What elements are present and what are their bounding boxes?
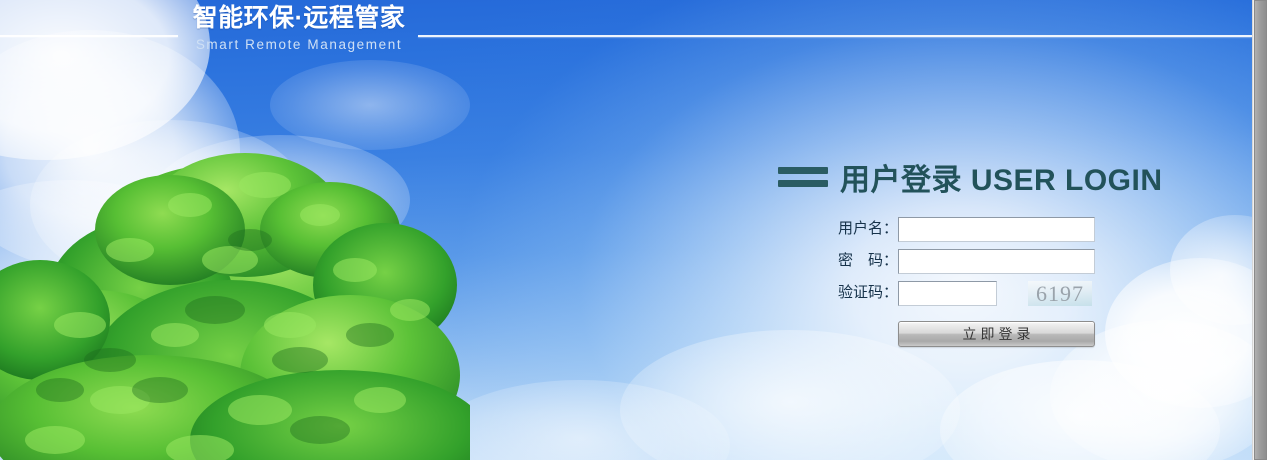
login-button[interactable]: 立即登录 (898, 321, 1095, 347)
password-label: 密 码： (838, 249, 898, 271)
brand-title-cn: 智能环保·远程管家 (186, 6, 412, 31)
submit-row: 立即登录 (838, 321, 1158, 347)
login-page: 智能环保·远程管家 Smart Remote Management 用户登录 U… (0, 0, 1267, 460)
login-title-text: 用户登录 USER LOGIN (840, 155, 1163, 199)
captcha-image[interactable]: 6197 (1028, 281, 1092, 306)
captcha-label: 验证码： (838, 281, 898, 303)
vertical-scrollbar[interactable] (1252, 0, 1267, 460)
captcha-input[interactable] (898, 281, 997, 306)
password-input[interactable] (898, 249, 1095, 274)
username-label: 用户名： (838, 217, 898, 239)
password-row: 密 码： (838, 249, 1158, 274)
submit-spacer (838, 321, 898, 324)
login-title: 用户登录 USER LOGIN (778, 155, 1158, 199)
equals-bars-icon (778, 167, 828, 187)
header-rule-left (0, 35, 178, 37)
brand-block: 智能环保·远程管家 Smart Remote Management (186, 6, 412, 52)
login-panel: 用户登录 USER LOGIN 用户名： 密 码： 验证码： 6197 立即登录 (778, 155, 1158, 354)
brand-title-en: Smart Remote Management (186, 38, 412, 52)
scrollbar-thumb[interactable] (1254, 0, 1267, 460)
header-rule-right (418, 35, 1252, 37)
captcha-row: 验证码： 6197 (838, 281, 1158, 306)
username-row: 用户名： (838, 217, 1158, 242)
username-input[interactable] (898, 217, 1095, 242)
login-form: 用户名： 密 码： 验证码： 6197 立即登录 (778, 217, 1158, 347)
page-header: 智能环保·远程管家 Smart Remote Management (0, 0, 1252, 64)
